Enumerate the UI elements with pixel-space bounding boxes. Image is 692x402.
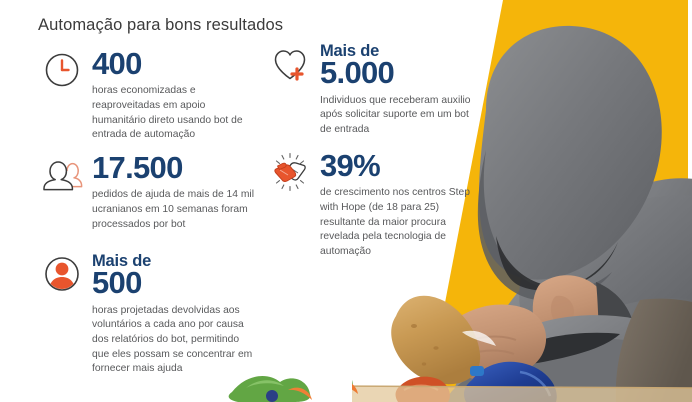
stat-block-volunteer: Mais de 500 horas projetadas devolvidas …: [40, 252, 255, 377]
stat-description-individuals: Individuos que receberam auxilio após so…: [320, 94, 478, 138]
clock-icon: [40, 48, 84, 92]
stat-description-requests: pedidos de ajuda de mais de 14 mil ucran…: [92, 188, 255, 232]
stat-number-requests: 17.500: [92, 153, 255, 183]
person-circle-icon: [40, 252, 84, 296]
page-title: Automação para bons resultados: [38, 16, 283, 35]
stat-description-hours: horas economizadas e reaproveitadas em a…: [92, 84, 255, 142]
stat-block-hours: 400 horas economizadas e reaproveitadas …: [40, 48, 255, 143]
two-people-icon: [40, 152, 84, 196]
handshake-icon: [268, 150, 312, 194]
infographic-root: Automação para bons resultados 400 horas…: [0, 0, 692, 402]
stat-number-hours: 400: [92, 49, 255, 79]
stat-description-growth: de crescimento nos centros Step with Hop…: [320, 186, 478, 259]
vegetables-foreground: [258, 360, 358, 402]
stat-block-growth: 39% de crescimento nos centros Step with…: [268, 150, 478, 259]
heart-plus-icon: [268, 42, 312, 86]
stat-number-individuals: 5.000: [320, 58, 478, 88]
stat-block-individuals: Mais de 5.000 Individuos que receberam a…: [268, 42, 478, 138]
stat-number-growth: 39%: [320, 151, 478, 181]
stat-description-volunteer: horas projetadas devolvidas aos voluntár…: [92, 304, 255, 377]
vegetables-foreground-left: [229, 376, 312, 402]
stat-block-requests: 17.500 pedidos de ajuda de mais de 14 mi…: [40, 152, 255, 232]
stat-number-volunteer: 500: [92, 268, 255, 298]
